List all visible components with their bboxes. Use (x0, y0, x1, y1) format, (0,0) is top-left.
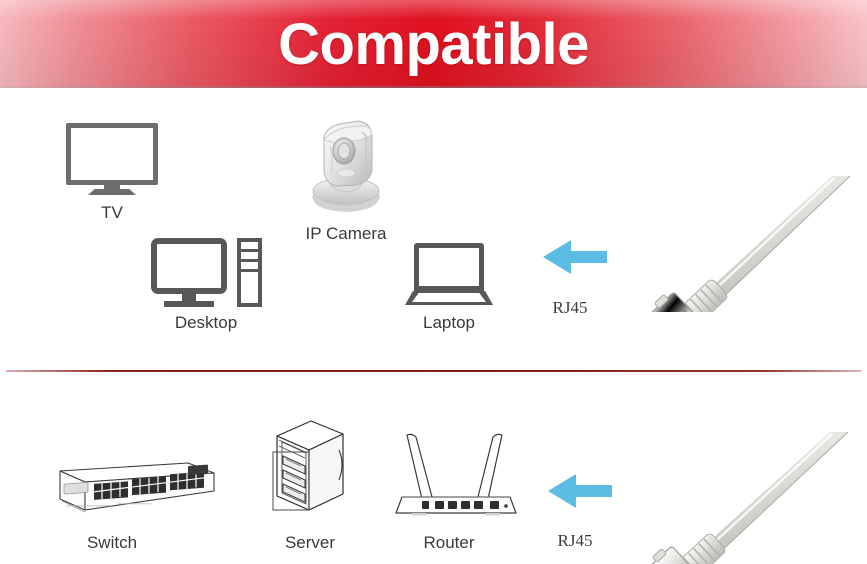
device-label-switch: Switch (57, 533, 167, 553)
device-label-laptop: Laptop (399, 313, 499, 333)
connector-label-rj45-top: RJ45 (515, 298, 625, 318)
left-arrow-icon-top (543, 240, 607, 274)
wireless-router-icon (390, 425, 522, 521)
device-label-server: Server (255, 533, 365, 553)
device-desktop (151, 238, 262, 307)
server-rack-icon (265, 418, 353, 522)
network-switch-icon (38, 455, 216, 517)
ethernet-cable-rj45-top (636, 176, 867, 312)
device-label-ip-camera: IP Camera (283, 224, 409, 244)
device-label-router: Router (399, 533, 499, 553)
connector-label-rj45-bottom: RJ45 (520, 531, 630, 551)
device-tv (66, 123, 158, 195)
left-arrow-icon-bottom (548, 474, 612, 508)
device-laptop (405, 243, 493, 305)
device-label-tv: TV (62, 203, 162, 223)
device-label-desktop: Desktop (156, 313, 256, 333)
ethernet-cable-rj45-bottom (640, 432, 867, 564)
section-divider (6, 370, 861, 372)
compatibility-infographic: Compatible TV (0, 0, 867, 564)
ip-camera-icon (300, 118, 392, 214)
page-title: Compatible (0, 0, 867, 88)
